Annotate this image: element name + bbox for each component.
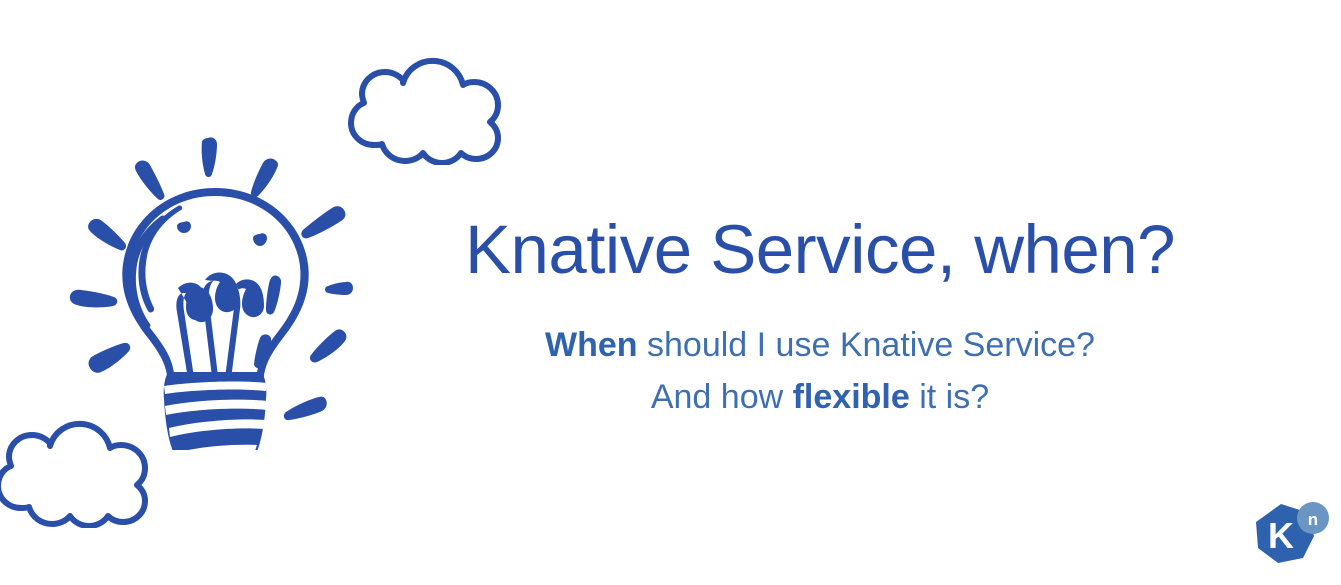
subtitle-line-1-rest: should I use Knative Service?	[638, 326, 1095, 364]
subtitle-line-2-rest: it is?	[910, 378, 989, 416]
lightbulb-icon	[60, 110, 370, 450]
knative-logo: K n	[1248, 500, 1334, 572]
logo-letter-k: K	[1268, 515, 1294, 556]
page-title: Knative Service, when?	[400, 215, 1240, 284]
cloud-icon	[0, 418, 152, 528]
subtitle: When should I use Knative Service? And h…	[400, 320, 1240, 423]
logo-badge-letter-n: n	[1308, 510, 1318, 529]
subtitle-line-1: When should I use Knative Service?	[400, 320, 1240, 372]
cloud-icon	[345, 55, 505, 165]
subtitle-emphasis-when: When	[545, 326, 638, 364]
subtitle-emphasis-flexible: flexible	[793, 378, 910, 416]
slide-text-block: Knative Service, when? When should I use…	[400, 215, 1240, 423]
slide-canvas: Knative Service, when? When should I use…	[0, 0, 1341, 585]
subtitle-line-2-lead: And how	[651, 378, 793, 416]
subtitle-line-2: And how flexible it is?	[400, 372, 1240, 424]
